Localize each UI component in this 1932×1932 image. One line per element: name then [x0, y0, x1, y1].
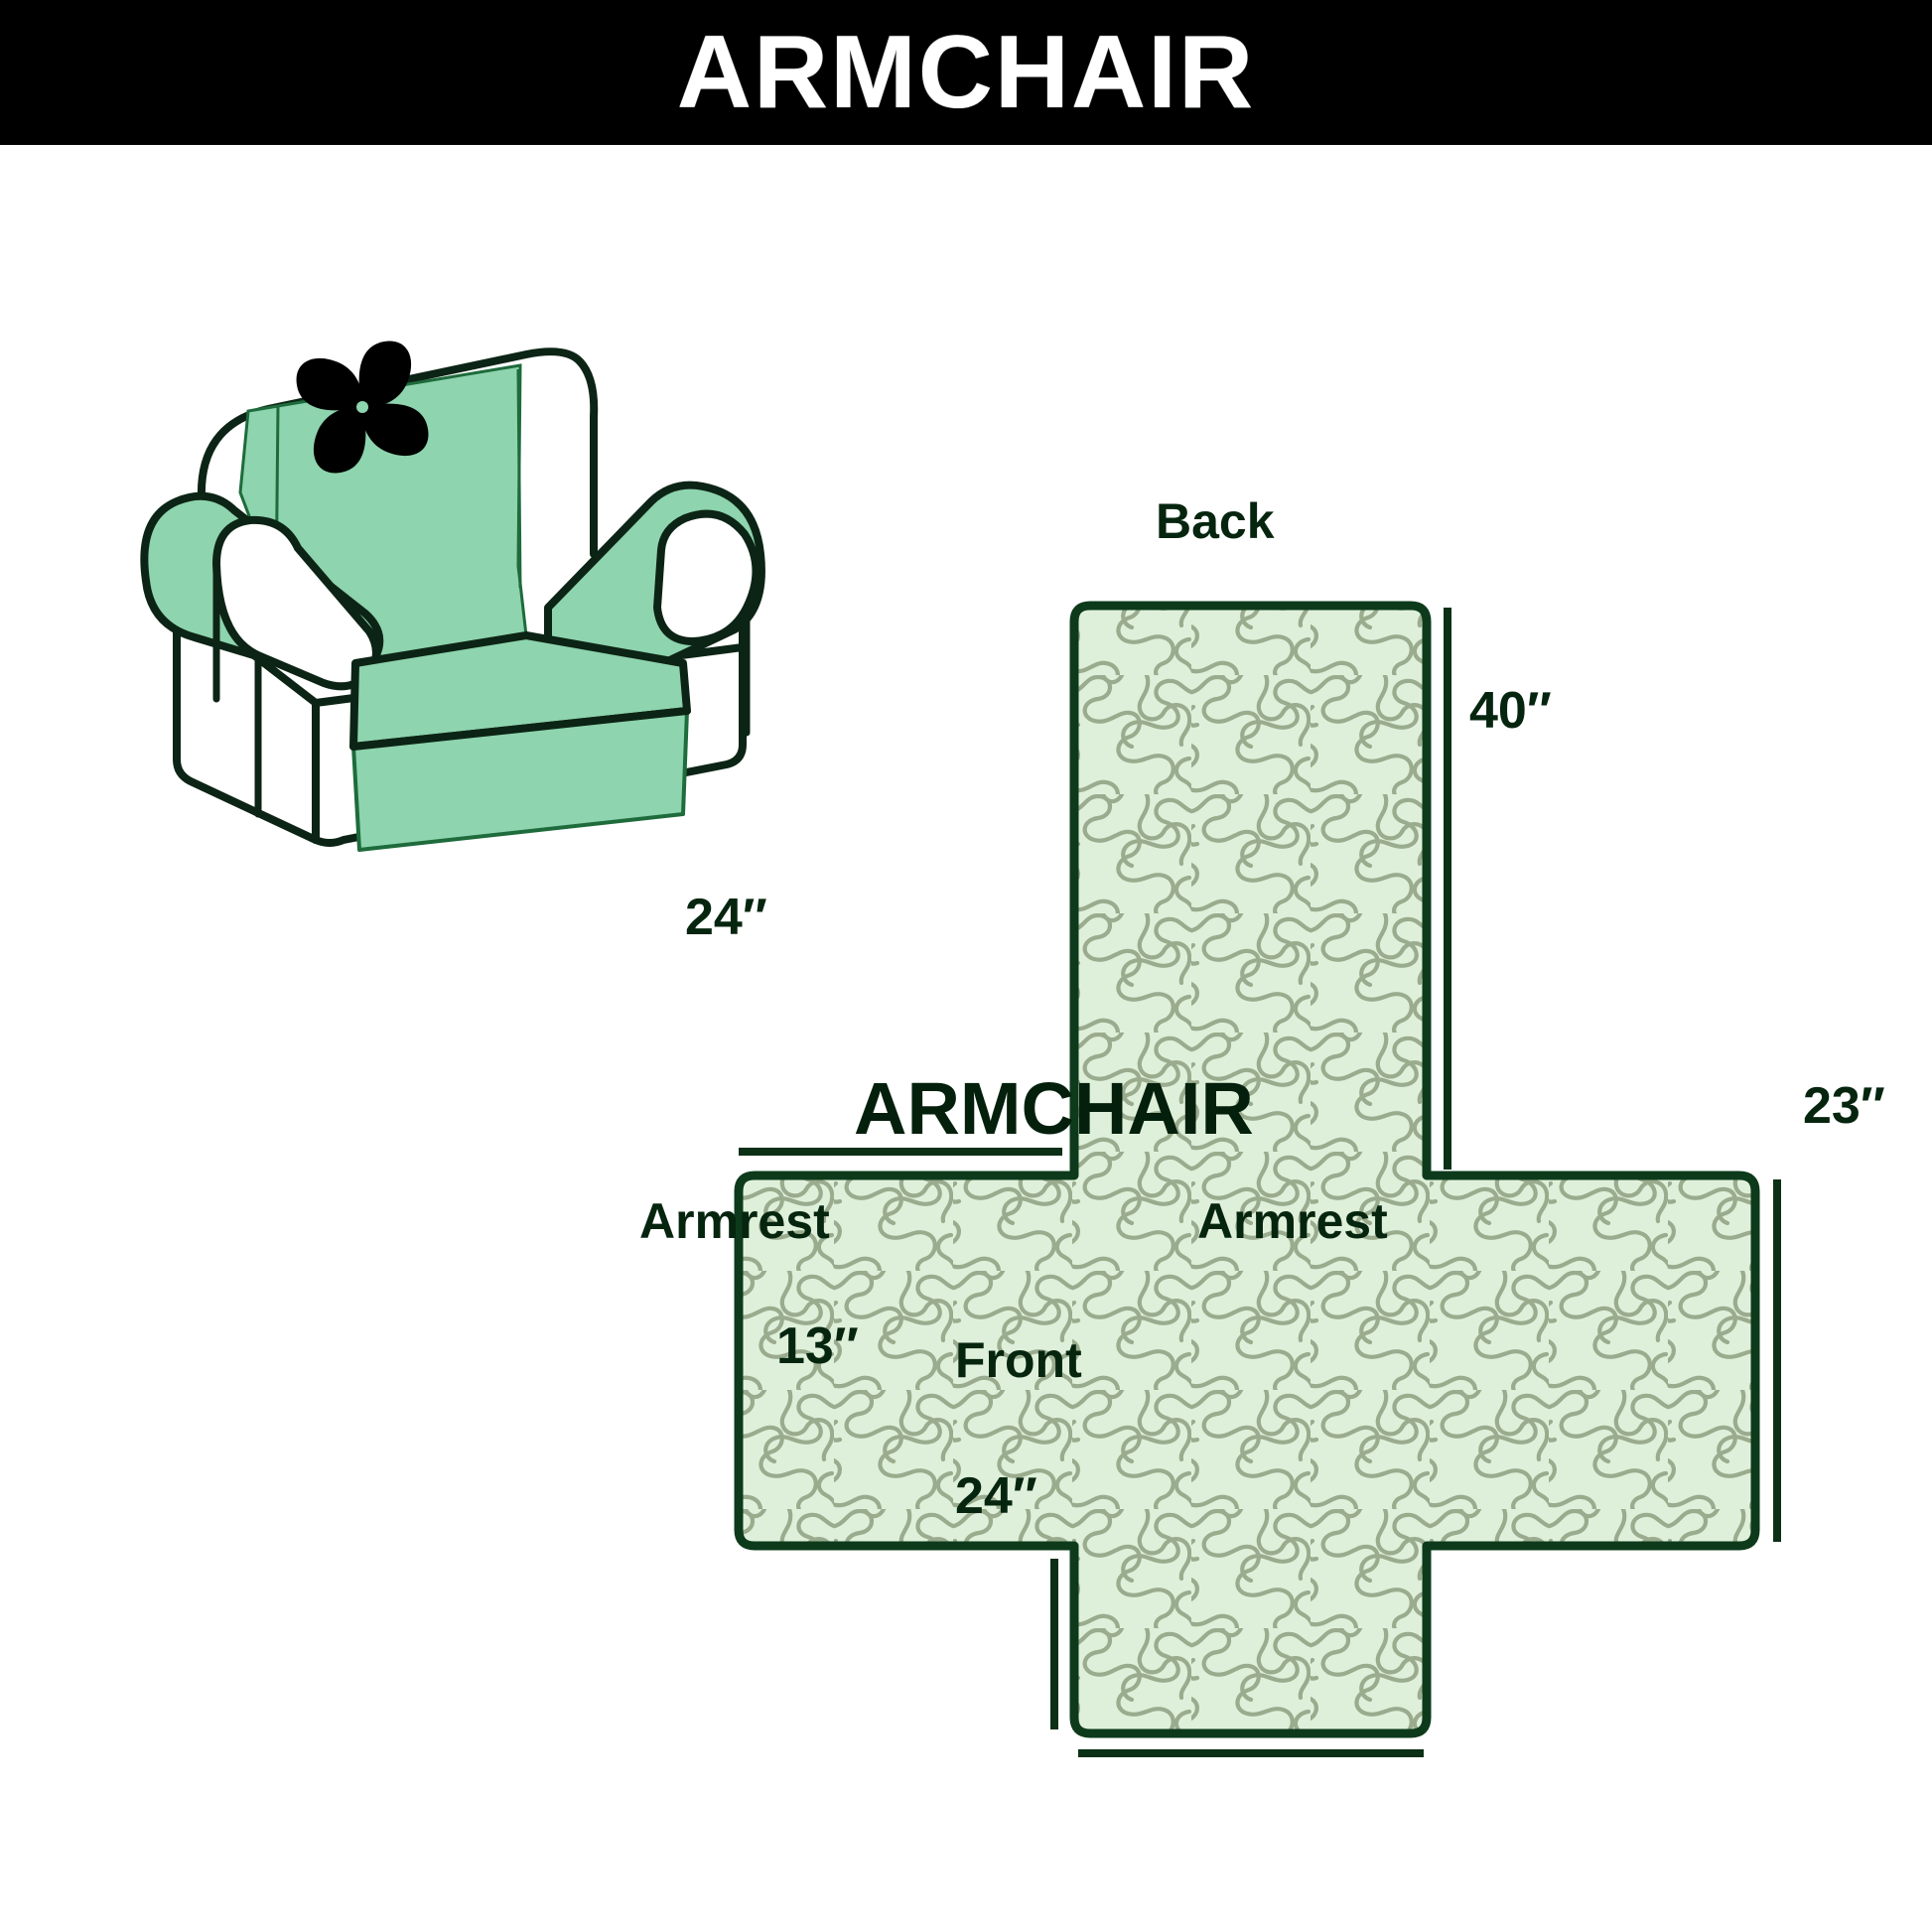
page-title: ARMCHAIR [677, 21, 1255, 124]
page-root: ARMCHAIR [0, 0, 1932, 1932]
dimension-label-front-height: 13″ [776, 1320, 859, 1372]
panel-label-armrest-left: Armrest [639, 1196, 830, 1246]
panel-label-armrest-right: Armrest [1197, 1196, 1388, 1246]
panel-label-front: Front [955, 1335, 1082, 1385]
dimension-label-front-width: 24″ [955, 1470, 1037, 1522]
dimension-label-back-height: 40″ [1469, 685, 1552, 737]
dimension-label-back-width: 24″ [685, 892, 767, 943]
header-bar: ARMCHAIR [0, 0, 1932, 145]
cover-cross-shape [739, 606, 1755, 1733]
diagram-center-label: ARMCHAIR [854, 1072, 1254, 1146]
fan-icon [297, 342, 429, 474]
dimension-label-armrest-depth: 23″ [1803, 1080, 1885, 1132]
panel-label-back: Back [1156, 496, 1275, 546]
